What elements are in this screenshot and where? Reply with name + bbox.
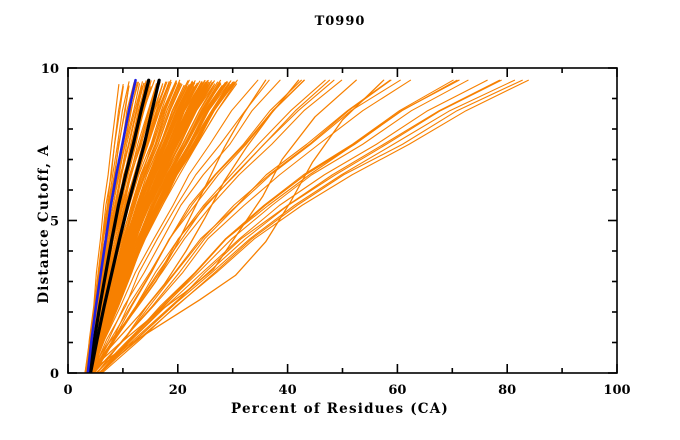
svg-text:0: 0 [50, 367, 59, 382]
svg-text:10: 10 [41, 62, 59, 77]
svg-text:40: 40 [279, 383, 297, 398]
svg-text:100: 100 [603, 383, 630, 398]
svg-text:80: 80 [498, 383, 516, 398]
plot-canvas: 0204060801000510 [0, 0, 680, 440]
svg-text:5: 5 [50, 215, 59, 230]
svg-text:0: 0 [63, 383, 72, 398]
svg-text:60: 60 [388, 383, 406, 398]
svg-text:20: 20 [169, 383, 187, 398]
chart-figure: T0990 Percent of Residues (CA) Distance … [0, 0, 680, 440]
curve-group [85, 80, 528, 373]
ensemble-curve [102, 80, 528, 373]
